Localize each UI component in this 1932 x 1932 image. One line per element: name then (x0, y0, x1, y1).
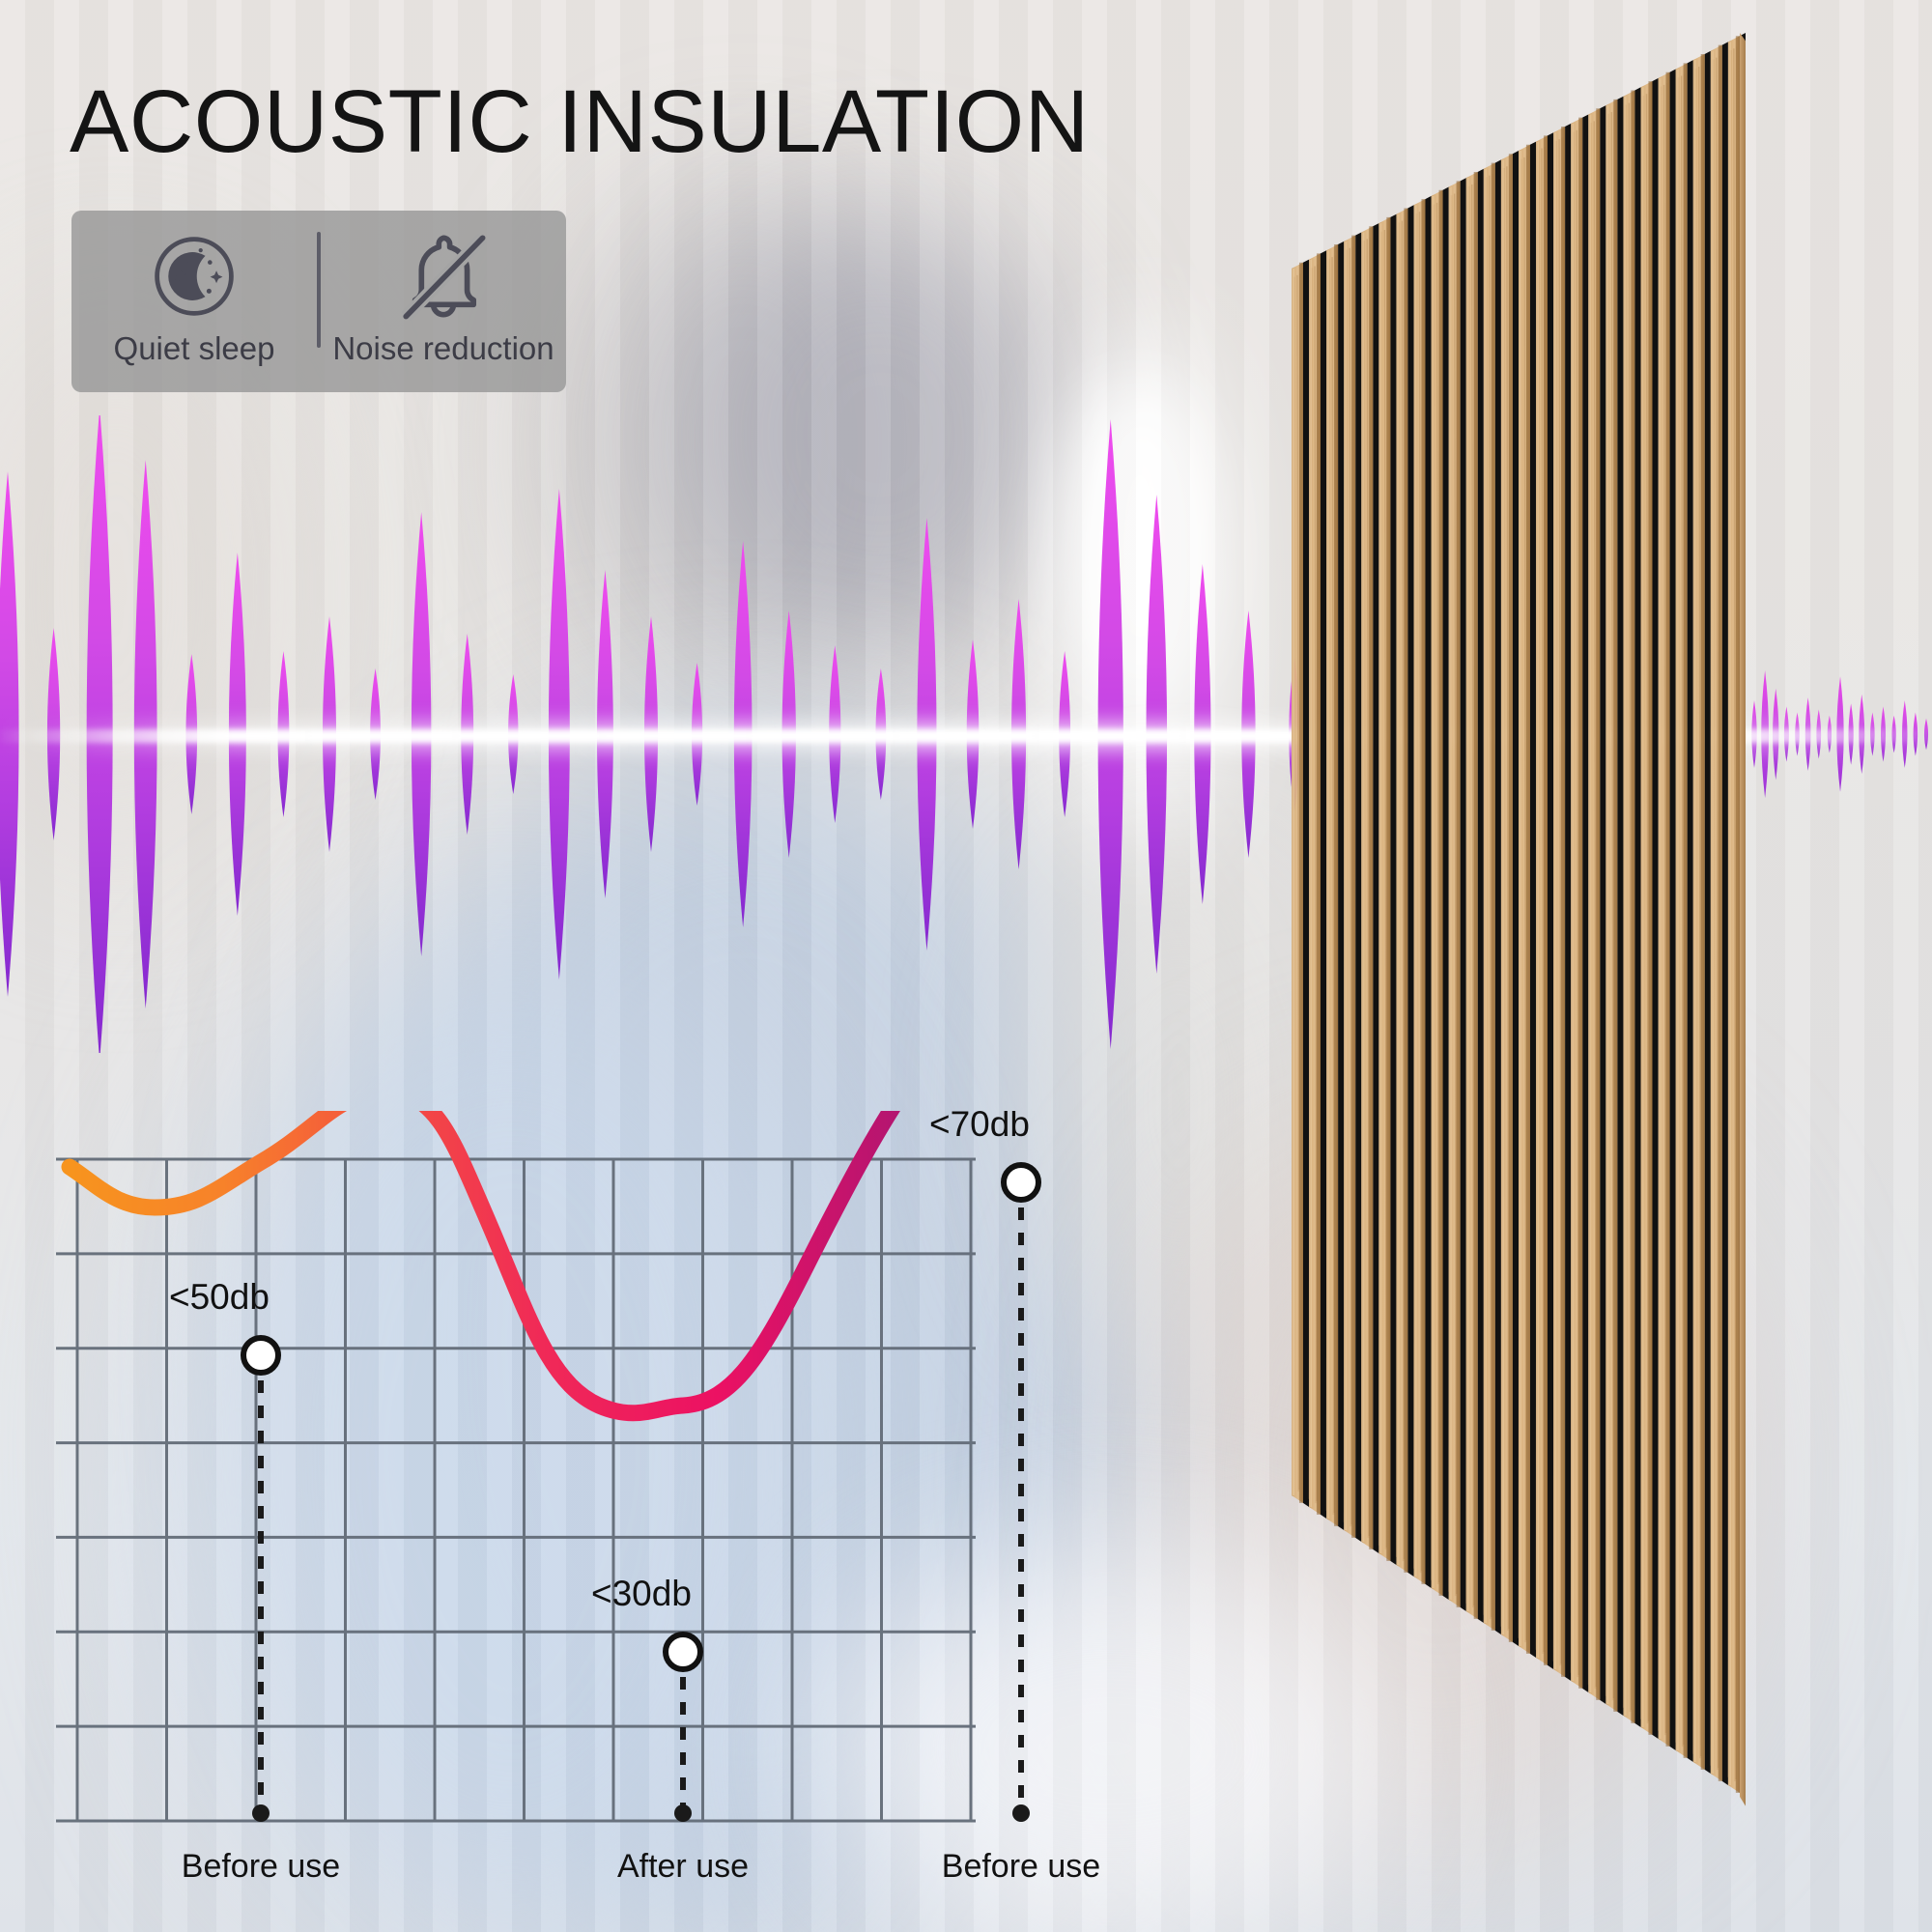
feature-quiet-sleep: Quiet sleep (71, 211, 317, 392)
svg-text:Before use: Before use (942, 1848, 1100, 1884)
feature-label: Noise reduction (332, 330, 554, 367)
moon-stars-icon (148, 228, 241, 325)
page-title: ACOUSTIC INSULATION (70, 77, 1090, 166)
svg-text:<70db: <70db (929, 1111, 1030, 1144)
db-comparison-chart: Before useAfter useBefore use <50db<30db… (0, 1111, 1275, 1884)
feature-noise-reduction: Noise reduction (321, 211, 566, 392)
svg-text:Before use: Before use (182, 1848, 340, 1884)
svg-text:After use: After use (617, 1848, 749, 1884)
wood-slat-panel (1292, 27, 1746, 1922)
svg-text:<30db: <30db (591, 1574, 692, 1613)
poster-canvas: ACOUSTIC INSULATION Quiet sleep (0, 0, 1932, 1932)
feature-label: Quiet sleep (114, 330, 275, 367)
feature-badge: Quiet sleep Noise reduction (71, 211, 566, 392)
svg-text:<50db: <50db (169, 1277, 270, 1317)
bell-slash-icon (393, 228, 494, 325)
